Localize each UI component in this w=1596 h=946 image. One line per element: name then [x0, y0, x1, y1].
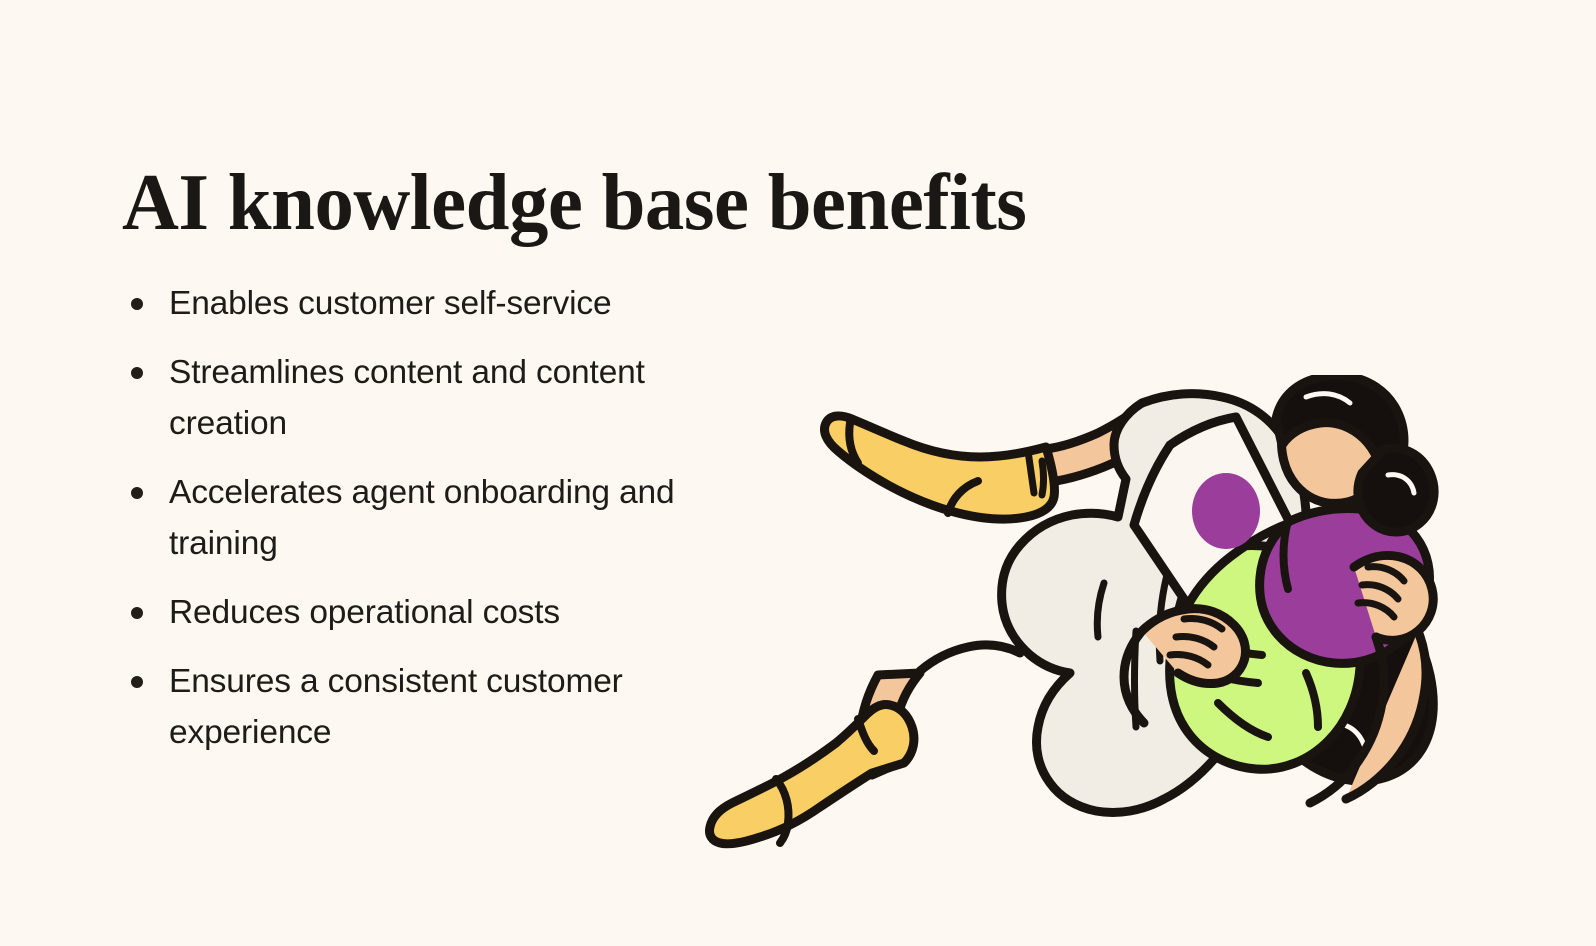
list-item: Enables customer self-service	[122, 278, 722, 329]
benefits-list: Enables customer self-service Streamline…	[122, 278, 722, 758]
list-item: Reduces operational costs	[122, 587, 722, 638]
book-cover-dot	[1192, 473, 1260, 549]
list-item: Accelerates agent onboarding and trainin…	[122, 467, 722, 569]
list-item: Ensures a consistent customer experience	[122, 656, 722, 758]
list-item-label: Ensures a consistent customer experience	[169, 656, 722, 758]
list-item-label: Enables customer self-service	[169, 278, 722, 329]
bullet-icon	[131, 607, 143, 619]
bullet-icon	[131, 298, 143, 310]
illustration-svg	[690, 375, 1490, 865]
list-item-label: Accelerates agent onboarding and trainin…	[169, 467, 722, 569]
pants-cuff-lower	[920, 645, 1020, 671]
bottom-sock	[709, 704, 913, 843]
top-sock	[825, 416, 1055, 519]
bullet-icon	[131, 367, 143, 379]
top-sock-cuff-line-2	[1042, 461, 1044, 495]
bullet-icon	[131, 487, 143, 499]
book-spine	[1284, 521, 1289, 589]
list-item-label: Reduces operational costs	[169, 587, 722, 638]
page-title: AI knowledge base benefits	[122, 161, 1206, 245]
hair-curl-nape	[1358, 448, 1434, 532]
content-column: AI knowledge base benefits Enables custo…	[0, 0, 720, 946]
bullet-icon	[131, 676, 143, 688]
person-reading-book-illustration	[690, 375, 1490, 865]
slide-canvas: AI knowledge base benefits Enables custo…	[0, 0, 1596, 946]
list-item-label: Streamlines content and content creation	[169, 347, 722, 449]
list-item: Streamlines content and content creation	[122, 347, 722, 449]
